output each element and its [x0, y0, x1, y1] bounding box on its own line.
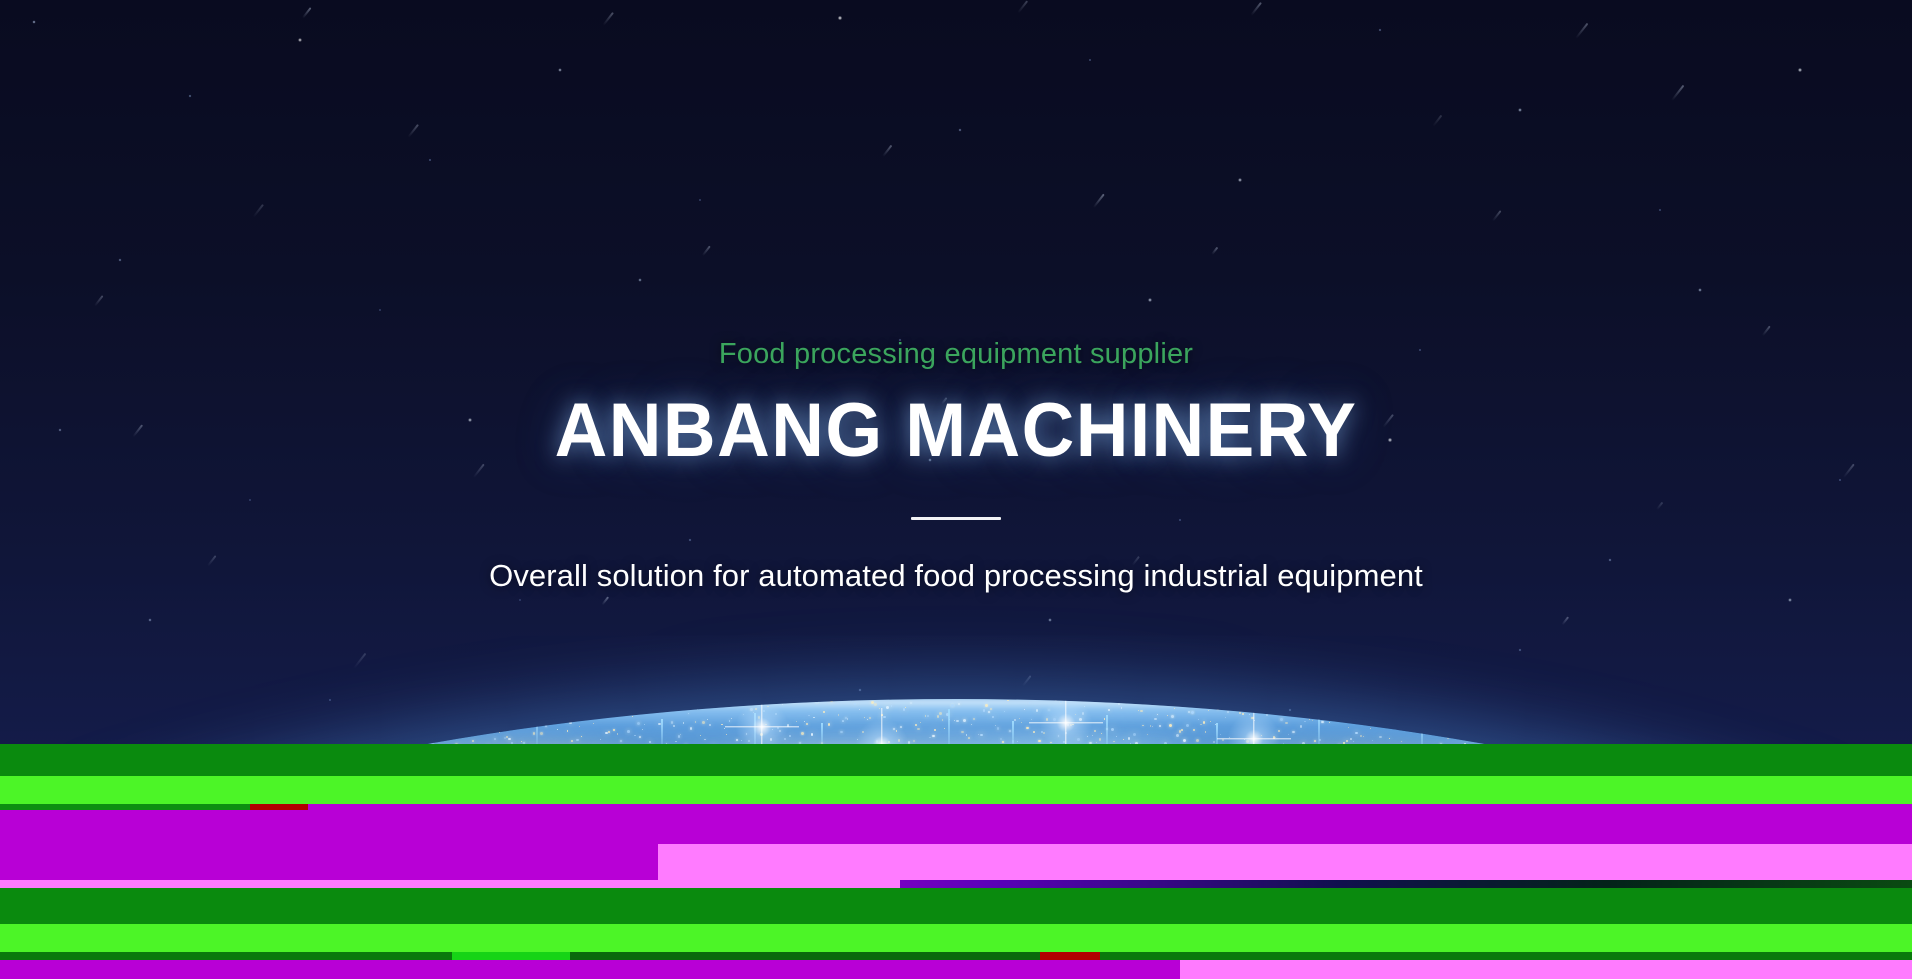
city-light — [886, 706, 889, 709]
city-light — [1060, 701, 1062, 703]
city-light — [1331, 705, 1332, 706]
city-light — [1099, 738, 1101, 740]
city-light — [750, 708, 753, 711]
city-light — [1571, 720, 1573, 722]
city-light — [1401, 741, 1402, 742]
city-light — [259, 740, 262, 743]
city-light — [929, 737, 931, 739]
city-light — [1442, 706, 1443, 707]
city-light — [1261, 735, 1262, 736]
city-light — [1217, 708, 1218, 709]
city-light — [736, 739, 738, 741]
city-light — [216, 729, 217, 730]
band-magenta-2 — [0, 960, 1912, 979]
city-light — [898, 739, 901, 742]
city-light — [731, 718, 732, 719]
city-light — [1036, 709, 1039, 712]
city-light — [1549, 728, 1550, 729]
city-light — [542, 709, 544, 711]
city-light — [644, 724, 645, 725]
city-light — [1234, 710, 1235, 711]
glitch-segment — [1460, 744, 1912, 776]
city-light — [1072, 724, 1074, 726]
city-light — [1043, 732, 1045, 734]
city-light — [862, 731, 864, 733]
city-light — [1263, 711, 1264, 712]
city-light — [787, 724, 790, 727]
city-light — [1365, 723, 1366, 724]
city-light — [1546, 723, 1547, 724]
city-light — [1065, 732, 1067, 734]
city-light — [1643, 716, 1645, 718]
city-light — [383, 707, 386, 710]
city-light — [1363, 736, 1365, 738]
city-light — [1513, 730, 1515, 732]
city-light — [1075, 714, 1076, 715]
city-light — [1346, 740, 1348, 742]
city-light — [995, 725, 996, 726]
city-light — [303, 722, 306, 725]
city-light — [349, 729, 351, 731]
city-light — [1055, 700, 1057, 702]
city-light — [1350, 738, 1352, 740]
city-light — [1694, 728, 1695, 729]
city-light — [221, 726, 224, 729]
city-light — [1229, 737, 1230, 738]
city-light — [1002, 741, 1004, 743]
city-light — [854, 703, 856, 705]
city-light — [465, 710, 468, 713]
city-light — [864, 717, 865, 718]
city-light — [484, 706, 487, 709]
city-light — [1646, 718, 1649, 721]
city-light — [850, 700, 851, 701]
city-light — [593, 723, 594, 724]
city-light — [1609, 719, 1612, 722]
city-light — [1249, 714, 1250, 715]
city-light — [436, 724, 438, 726]
city-light — [545, 725, 547, 727]
city-light — [707, 719, 708, 720]
city-light — [552, 707, 553, 708]
city-light — [1469, 737, 1470, 738]
city-light — [1585, 721, 1587, 723]
city-light — [1152, 726, 1153, 727]
city-light — [796, 721, 797, 722]
city-light — [770, 738, 773, 741]
city-light — [1341, 715, 1344, 718]
city-light — [1474, 719, 1476, 721]
city-light — [680, 734, 681, 735]
city-light — [1621, 721, 1623, 723]
city-light — [320, 722, 321, 723]
city-light — [1297, 703, 1298, 704]
city-light — [688, 713, 689, 714]
city-light — [296, 718, 299, 721]
city-light — [1450, 732, 1452, 734]
city-light — [1433, 729, 1434, 730]
city-light — [767, 706, 768, 707]
hero-subtitle: Overall solution for automated food proc… — [0, 558, 1912, 594]
city-light — [588, 704, 590, 706]
city-light — [833, 699, 834, 700]
city-light — [1660, 729, 1663, 732]
city-light — [673, 725, 675, 727]
city-light — [1118, 703, 1120, 705]
city-light — [1438, 731, 1441, 734]
city-light — [429, 730, 430, 731]
city-light — [1213, 741, 1216, 744]
city-light — [1225, 717, 1226, 718]
city-light — [954, 720, 955, 721]
city-light — [1210, 721, 1211, 722]
city-light — [1007, 700, 1009, 702]
city-light — [581, 736, 582, 737]
city-light — [1324, 712, 1326, 714]
city-light — [971, 724, 972, 725]
city-light — [654, 706, 656, 708]
city-light — [317, 733, 320, 736]
meteor-streak — [882, 145, 892, 157]
city-light — [521, 741, 522, 742]
city-light — [900, 726, 902, 728]
city-light — [1423, 722, 1426, 725]
meteor-streak — [252, 204, 263, 218]
city-light — [494, 738, 496, 740]
city-light — [225, 722, 228, 725]
city-light — [1048, 709, 1050, 711]
city-light — [1575, 720, 1576, 721]
city-light — [1394, 708, 1395, 709]
city-light — [934, 729, 936, 731]
city-light — [828, 723, 831, 726]
city-light — [305, 713, 306, 714]
glitch-segment — [1180, 960, 1912, 979]
city-light — [208, 718, 210, 720]
city-light — [700, 735, 701, 736]
city-light — [695, 721, 696, 722]
city-light — [704, 739, 706, 741]
city-light — [997, 727, 999, 729]
city-light — [726, 734, 727, 735]
city-light — [1462, 713, 1464, 715]
city-light — [656, 701, 658, 703]
city-light — [516, 712, 517, 713]
city-light — [1542, 729, 1544, 731]
city-light — [840, 731, 843, 734]
city-light — [443, 712, 446, 715]
city-light — [1679, 727, 1681, 729]
city-light — [211, 735, 212, 736]
city-light — [874, 703, 877, 706]
city-light — [1428, 731, 1430, 733]
city-light — [1452, 731, 1454, 733]
city-light — [293, 729, 295, 731]
city-light — [1663, 738, 1665, 740]
band-dark-green-1 — [0, 744, 1912, 776]
city-light — [327, 741, 328, 742]
city-light — [1317, 704, 1318, 705]
city-light — [1471, 716, 1472, 717]
city-light — [1029, 702, 1030, 703]
city-light — [683, 722, 685, 724]
city-light — [1348, 727, 1349, 728]
meteor-streak — [1671, 85, 1684, 101]
city-light — [598, 716, 599, 717]
city-light — [1290, 706, 1292, 708]
city-light — [985, 704, 988, 707]
city-light — [1377, 704, 1379, 706]
city-light — [917, 728, 920, 731]
screenshot-stage: Food processing equipment supplier ANBAN… — [0, 0, 1912, 979]
city-light — [571, 740, 573, 742]
city-light — [501, 724, 502, 725]
city-light — [1079, 718, 1082, 721]
city-light — [956, 720, 959, 723]
city-light — [279, 715, 280, 716]
city-light — [620, 740, 622, 742]
city-light — [608, 731, 610, 733]
city-light — [1614, 719, 1616, 721]
city-light — [779, 730, 781, 732]
meteor-streak — [602, 12, 613, 26]
city-light — [1116, 736, 1118, 738]
city-light — [603, 708, 606, 711]
city-light — [1515, 719, 1517, 721]
city-light — [1496, 720, 1499, 723]
city-light — [574, 707, 576, 709]
city-light — [1573, 732, 1575, 734]
city-light — [937, 715, 940, 718]
city-light — [288, 721, 290, 723]
city-light — [697, 709, 698, 710]
city-light — [342, 714, 345, 717]
city-light — [286, 726, 289, 729]
city-light — [1326, 710, 1328, 712]
city-light — [1503, 709, 1505, 711]
city-light — [646, 706, 648, 708]
city-light — [1624, 739, 1627, 742]
band-magenta-1 — [0, 810, 1912, 844]
city-light — [1171, 715, 1174, 718]
city-light — [591, 702, 592, 703]
city-light — [1246, 740, 1249, 743]
city-light — [801, 732, 804, 735]
city-light — [632, 716, 633, 717]
city-light — [1133, 733, 1136, 736]
city-light — [978, 734, 980, 736]
city-light — [983, 709, 986, 712]
city-light — [230, 729, 231, 730]
city-light — [218, 715, 219, 716]
city-light — [356, 728, 357, 729]
meteor-streak — [94, 295, 103, 306]
meteor-streak — [601, 596, 608, 605]
city-light — [1285, 722, 1288, 725]
city-light — [869, 717, 872, 720]
city-light — [1188, 711, 1190, 713]
city-light — [281, 740, 284, 743]
city-light — [274, 719, 277, 722]
city-light — [1404, 724, 1405, 725]
city-light — [1208, 710, 1209, 711]
city-light — [847, 718, 848, 719]
city-light — [388, 721, 389, 722]
city-light — [748, 740, 751, 743]
city-light — [492, 717, 493, 718]
city-light — [717, 706, 718, 707]
city-light — [1067, 724, 1069, 726]
city-light — [1430, 711, 1433, 714]
city-light — [944, 728, 945, 729]
city-light — [1304, 721, 1305, 722]
city-light — [782, 704, 783, 705]
city-light — [233, 717, 234, 718]
city-light — [1159, 725, 1161, 727]
city-light — [1396, 714, 1397, 715]
city-light — [1053, 718, 1056, 721]
city-light — [1295, 710, 1298, 713]
city-light — [1038, 740, 1041, 743]
city-light — [450, 713, 453, 716]
city-light — [513, 721, 515, 723]
city-light — [262, 710, 264, 712]
city-light — [1183, 739, 1186, 742]
city-light — [881, 714, 883, 716]
city-light — [1314, 740, 1316, 742]
city-light — [1467, 716, 1469, 718]
city-light — [1701, 736, 1703, 738]
city-light — [1418, 715, 1421, 718]
city-light — [1476, 726, 1479, 729]
city-light — [269, 734, 272, 737]
city-light — [1520, 718, 1522, 720]
band-seam-red-2 — [0, 952, 1912, 960]
city-light — [433, 721, 435, 723]
city-light — [1026, 727, 1028, 729]
city-light — [1425, 720, 1427, 722]
city-light — [1563, 720, 1565, 722]
city-light — [852, 701, 853, 702]
city-light — [714, 704, 716, 706]
hero-eyebrow: Food processing equipment supplier — [0, 338, 1912, 371]
city-light — [235, 737, 237, 739]
city-light — [361, 722, 363, 724]
city-light — [1687, 737, 1689, 739]
city-light — [1672, 712, 1674, 714]
glitch-segment — [0, 776, 1340, 804]
title-divider — [911, 517, 1001, 520]
city-light — [1092, 735, 1094, 737]
city-light — [724, 728, 726, 730]
city-light — [1181, 729, 1183, 731]
city-light — [857, 739, 858, 740]
city-light — [775, 713, 777, 715]
city-light — [1486, 741, 1488, 743]
city-light — [240, 719, 241, 720]
city-light — [1123, 739, 1124, 740]
city-light — [1483, 727, 1486, 730]
band-gradient-seam — [0, 880, 1912, 888]
city-light — [329, 720, 331, 722]
city-light — [378, 719, 380, 721]
city-light — [743, 714, 744, 715]
city-light — [1392, 713, 1393, 714]
city-light — [228, 741, 230, 743]
city-light — [642, 729, 643, 730]
city-light — [634, 735, 636, 737]
meteor-streak — [407, 124, 418, 138]
city-light — [1682, 740, 1683, 741]
city-light — [1009, 730, 1011, 732]
city-light — [322, 738, 324, 740]
city-light — [763, 710, 765, 712]
city-light — [1121, 707, 1123, 709]
city-light — [583, 709, 585, 711]
city-light — [1193, 729, 1195, 731]
city-light — [1379, 736, 1381, 738]
glitch-segment — [452, 952, 570, 960]
city-light — [325, 725, 327, 727]
city-light — [1670, 733, 1672, 735]
glitch-segment — [1340, 776, 1912, 804]
city-light — [1321, 721, 1324, 724]
city-light — [913, 740, 915, 742]
city-light — [692, 702, 694, 704]
city-light — [1278, 730, 1280, 732]
city-light — [1665, 711, 1666, 712]
city-light — [721, 724, 723, 726]
city-light — [1583, 717, 1586, 720]
city-light — [569, 722, 572, 725]
city-light — [733, 701, 735, 703]
city-light — [206, 735, 208, 737]
city-light — [499, 732, 501, 734]
city-light — [540, 732, 543, 735]
city-light — [1372, 740, 1373, 741]
city-light — [678, 735, 680, 737]
city-light — [1406, 709, 1409, 712]
city-light — [1019, 718, 1020, 719]
city-light — [1087, 736, 1088, 737]
city-light — [966, 734, 968, 736]
city-light — [1082, 712, 1085, 715]
city-light — [627, 730, 630, 733]
city-light — [746, 733, 748, 735]
city-light — [738, 700, 740, 702]
city-light — [298, 731, 299, 732]
city-light — [1653, 732, 1655, 734]
city-light — [1590, 721, 1592, 723]
city-light — [1604, 736, 1606, 738]
city-light — [1667, 725, 1669, 727]
city-light — [818, 701, 819, 702]
city-light — [1537, 707, 1540, 710]
city-light — [482, 725, 484, 727]
city-light — [893, 728, 895, 730]
city-light — [905, 707, 906, 708]
city-light — [472, 740, 474, 742]
city-light — [671, 721, 673, 723]
page-title: ANBANG MACHINERY — [38, 390, 1874, 472]
city-light — [990, 708, 993, 711]
meteor-streak — [1762, 326, 1771, 336]
city-light — [242, 715, 243, 716]
band-bright-green-1 — [0, 776, 1912, 804]
meteor-streak — [1211, 247, 1218, 255]
city-light — [968, 737, 970, 739]
city-light — [1658, 717, 1660, 719]
